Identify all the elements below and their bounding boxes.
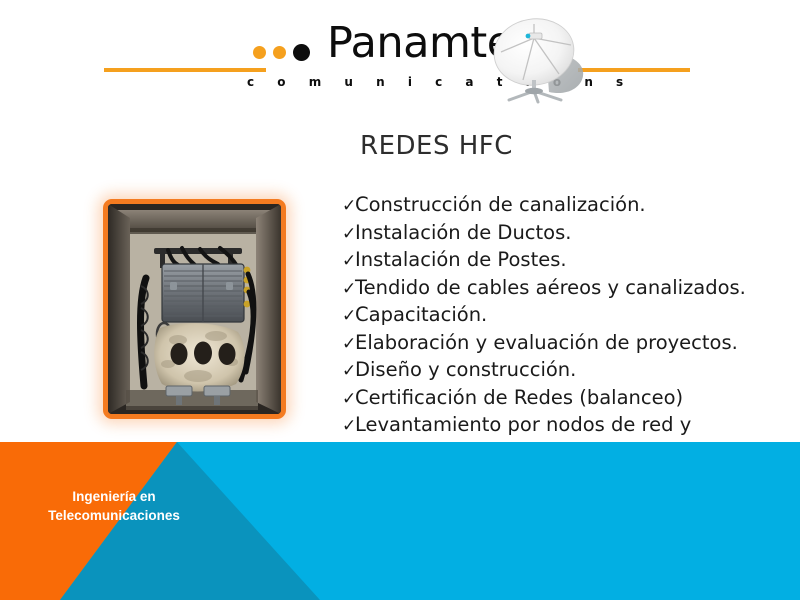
footer-tagline: Ingeniería en Telecomunicaciones (24, 487, 204, 525)
slide-canvas: Panamtel c o m u n i c a t i o n s (0, 0, 800, 600)
list-item-label: Tendido de cables aéreos y canalizados. (355, 276, 746, 299)
list-item-label: Capacitación. (355, 303, 487, 326)
list-item-label: Construcción de canalización. (355, 193, 646, 216)
dot-orange-2-icon (273, 46, 286, 59)
check-icon: ✓ (342, 248, 355, 275)
check-icon: ✓ (342, 413, 355, 440)
header-rule-left (104, 68, 266, 72)
satellite-dish-icon (483, 12, 603, 107)
list-item: ✓Instalación de Postes. (342, 247, 762, 275)
check-icon: ✓ (342, 358, 355, 385)
check-icon: ✓ (342, 276, 355, 303)
hfc-vault-photo (103, 199, 286, 419)
list-item-label: Levantamiento por nodos de red y (355, 413, 691, 436)
list-item-label: Certificación de Redes (balanceo) (355, 386, 683, 409)
list-item-label: Diseño y construcción. (355, 358, 576, 381)
list-item: ✓Tendido de cables aéreos y canalizados. (342, 275, 762, 303)
list-item: ✓Elaboración y evaluación de proyectos. (342, 330, 762, 358)
list-item-label: Elaboración y evaluación de proyectos. (355, 331, 738, 354)
footer-tagline-line-1: Ingeniería en (24, 487, 204, 506)
logo-dots-group (253, 44, 310, 61)
list-item: ✓Instalación de Ductos. (342, 220, 762, 248)
list-item-label: Instalación de Ductos. (355, 221, 571, 244)
check-icon: ✓ (342, 221, 355, 248)
check-icon: ✓ (342, 193, 355, 220)
list-item: ✓Diseño y construcción. (342, 357, 762, 385)
list-item-label: Instalación de Postes. (355, 248, 567, 271)
slide-header: Panamtel c o m u n i c a t i o n s (0, 0, 800, 110)
check-icon: ✓ (342, 303, 355, 330)
feature-bullet-list: ✓Construcción de canalización. ✓Instalac… (342, 192, 762, 466)
list-item: ✓Capacitación. (342, 302, 762, 330)
check-icon: ✓ (342, 386, 355, 413)
dot-orange-1-icon (253, 46, 266, 59)
list-item: ✓Certificación de Redes (balanceo) (342, 385, 762, 413)
check-icon: ✓ (342, 331, 355, 358)
list-item: ✓Construcción de canalización. (342, 192, 762, 220)
dot-black-icon (293, 44, 310, 61)
page-title: REDES HFC (360, 131, 513, 161)
footer-tagline-line-2: Telecomunicaciones (24, 506, 204, 525)
